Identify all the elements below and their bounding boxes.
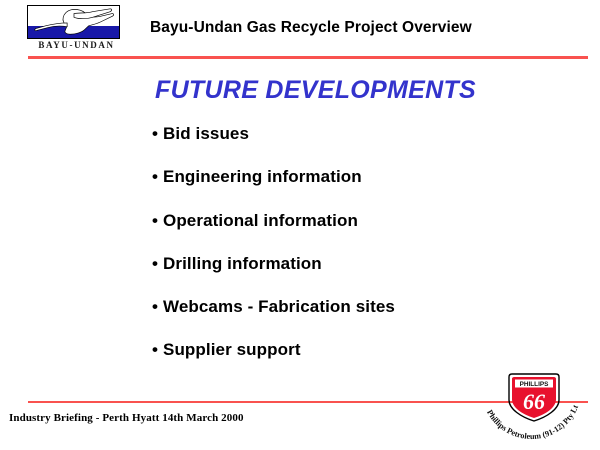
pelican-bird-icon bbox=[28, 6, 119, 38]
list-item-label: Webcams - Fabrication sites bbox=[163, 297, 395, 317]
bullet-icon: • bbox=[152, 297, 163, 317]
header-divider bbox=[28, 56, 588, 59]
bullet-icon: • bbox=[152, 167, 163, 187]
bullet-icon: • bbox=[152, 211, 163, 231]
logo-image-box bbox=[27, 5, 120, 39]
list-item-label: Operational information bbox=[163, 211, 358, 231]
footer-caption: Industry Briefing - Perth Hyatt 14th Mar… bbox=[9, 412, 244, 424]
list-item-label: Bid issues bbox=[163, 124, 249, 144]
logo-caption: BAYU-UNDAN bbox=[27, 40, 124, 51]
list-item: • Drilling information bbox=[152, 254, 582, 297]
bullet-icon: • bbox=[152, 340, 163, 360]
list-item-label: Drilling information bbox=[163, 254, 322, 274]
slide-canvas: BAYU-UNDAN Bayu-Undan Gas Recycle Projec… bbox=[0, 0, 600, 450]
phillips-66-shield-icon: PHILLIPS 66 Phillips Petroleum (91-12) P… bbox=[478, 371, 590, 449]
list-item-label: Engineering information bbox=[163, 167, 362, 187]
shield-number: 66 bbox=[523, 389, 545, 414]
page-title: Bayu-Undan Gas Recycle Project Overview bbox=[150, 19, 472, 37]
list-item: • Bid issues bbox=[152, 124, 582, 167]
list-item-label: Supplier support bbox=[163, 340, 301, 360]
bullet-icon: • bbox=[152, 124, 163, 144]
shield-top-label: PHILLIPS bbox=[520, 381, 549, 388]
bullet-icon: • bbox=[152, 254, 163, 274]
bullet-list: • Bid issues • Engineering information •… bbox=[152, 124, 582, 384]
list-item: • Operational information bbox=[152, 211, 582, 254]
list-item: • Engineering information bbox=[152, 167, 582, 210]
list-item: • Webcams - Fabrication sites bbox=[152, 297, 582, 340]
bayu-undan-logo: BAYU-UNDAN bbox=[27, 5, 124, 51]
slide-heading: FUTURE DEVELOPMENTS bbox=[155, 76, 476, 105]
